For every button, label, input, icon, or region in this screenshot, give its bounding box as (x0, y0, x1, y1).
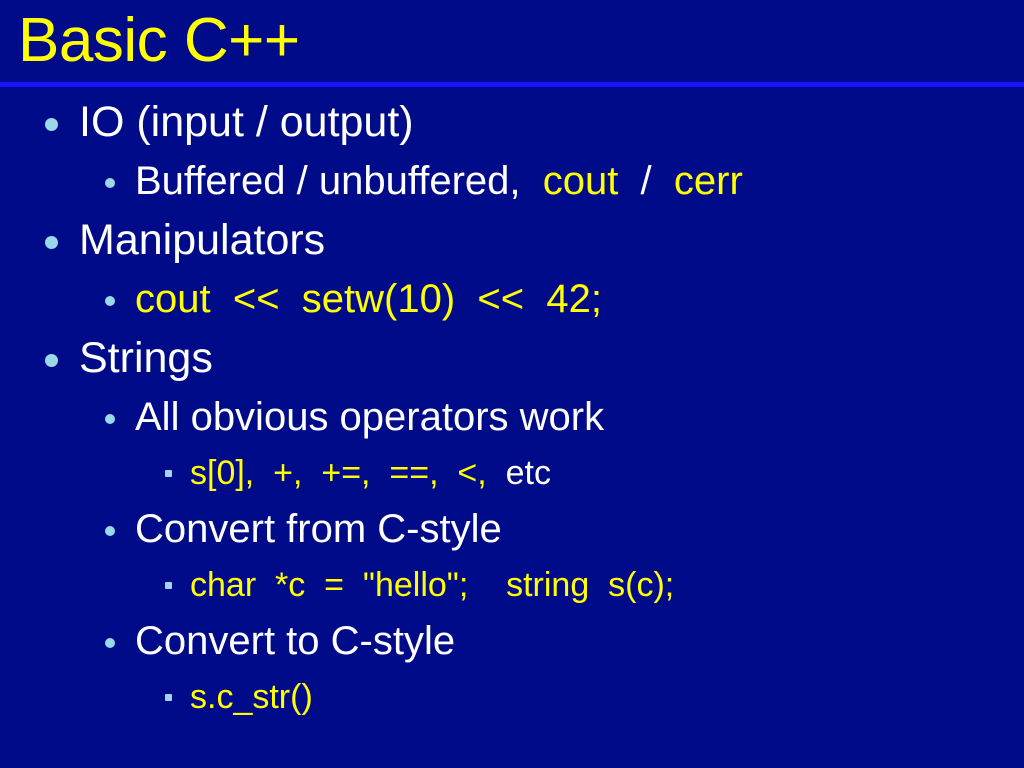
bullet-text: Convert from C-style (135, 500, 502, 558)
bullet-line: Manipulators (0, 210, 1024, 270)
round-bullet-icon (45, 118, 58, 131)
round-bullet-icon (105, 296, 115, 306)
bullet-line: Convert to C-style (0, 612, 1024, 670)
page-title: Basic C++ (18, 4, 300, 78)
code-span: s.c_str() (190, 678, 313, 716)
square-bullet-icon (165, 470, 172, 477)
round-bullet-icon (105, 414, 115, 424)
title-divider (0, 82, 1024, 87)
text-span: / (618, 159, 674, 203)
slide-title-area: Basic C++ (0, 0, 1024, 82)
bullet-line: IO (input / output) (0, 92, 1024, 152)
bullet-line: char *c = "hello"; string s(c); (0, 558, 1024, 612)
bullet-text: All obvious operators work (135, 388, 604, 446)
bullet-text: char *c = "hello"; string s(c); (190, 558, 674, 612)
round-bullet-icon (45, 236, 58, 249)
code-span: char *c = "hello"; string s(c); (190, 566, 674, 604)
bullet-text: s.c_str() (190, 670, 313, 724)
text-span: IO (input / output) (79, 98, 414, 146)
bullet-line: cout << setw(10) << 42; (0, 270, 1024, 328)
code-span: cout (543, 159, 619, 203)
round-bullet-icon (105, 178, 115, 188)
text-span: Manipulators (79, 216, 325, 264)
text-span: Convert from C-style (135, 507, 502, 551)
round-bullet-icon (105, 526, 115, 536)
code-span: cout << setw(10) << 42; (135, 277, 602, 321)
square-bullet-icon (165, 694, 172, 701)
code-span: s[0], +, +=, ==, <, (190, 454, 506, 492)
slide-body: IO (input / output)Buffered / unbuffered… (0, 92, 1024, 724)
text-span: All obvious operators work (135, 395, 604, 439)
bullet-line: All obvious operators work (0, 388, 1024, 446)
presentation-slide: Basic C++ IO (input / output)Buffered / … (0, 0, 1024, 768)
bullet-text: Manipulators (79, 210, 325, 270)
square-bullet-icon (165, 582, 172, 589)
bullet-line: Convert from C-style (0, 500, 1024, 558)
bullet-text: s[0], +, +=, ==, <, etc (190, 446, 551, 500)
round-bullet-icon (105, 638, 115, 648)
bullet-text: Strings (79, 328, 213, 388)
bullet-line: s.c_str() (0, 670, 1024, 724)
bullet-text: cout << setw(10) << 42; (135, 270, 602, 328)
text-span: etc (506, 454, 551, 492)
bullet-line: Strings (0, 328, 1024, 388)
code-span: cerr (674, 159, 743, 203)
round-bullet-icon (45, 354, 58, 367)
text-span: Convert to C-style (135, 619, 455, 663)
bullet-text: Buffered / unbuffered, cout / cerr (135, 152, 743, 210)
text-span: Strings (79, 334, 213, 382)
text-span: Buffered / unbuffered, (135, 159, 543, 203)
bullet-line: s[0], +, +=, ==, <, etc (0, 446, 1024, 500)
bullet-text: IO (input / output) (79, 92, 414, 152)
bullet-text: Convert to C-style (135, 612, 455, 670)
bullet-line: Buffered / unbuffered, cout / cerr (0, 152, 1024, 210)
